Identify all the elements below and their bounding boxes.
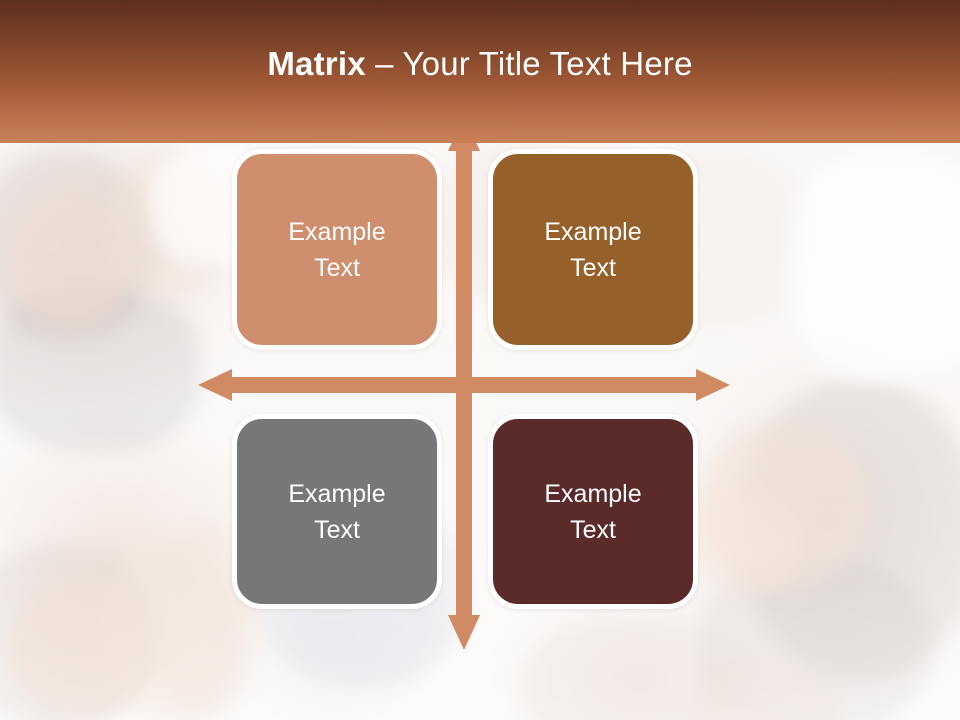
page-title-strong: Matrix bbox=[267, 45, 365, 82]
page-title: Matrix – Your Title Text Here bbox=[0, 44, 960, 84]
quadrant-top-left-label: Example Text bbox=[288, 214, 385, 286]
quadrant-bottom-right[interactable]: Example Text bbox=[488, 414, 698, 609]
slide-canvas: Example Text Example Text Example Text E… bbox=[0, 0, 960, 720]
quadrant-bottom-left[interactable]: Example Text bbox=[232, 414, 442, 609]
page-title-rest: Your Title Text Here bbox=[402, 45, 692, 82]
slide-header: Matrix – Your Title Text Here bbox=[0, 0, 960, 143]
quadrant-top-right[interactable]: Example Text bbox=[488, 149, 698, 350]
page-title-separator: – bbox=[366, 45, 403, 82]
quadrant-top-right-label: Example Text bbox=[544, 214, 641, 286]
quadrant-top-left[interactable]: Example Text bbox=[232, 149, 442, 350]
quadrant-bottom-right-label: Example Text bbox=[544, 476, 641, 548]
quadrant-bottom-left-label: Example Text bbox=[288, 476, 385, 548]
